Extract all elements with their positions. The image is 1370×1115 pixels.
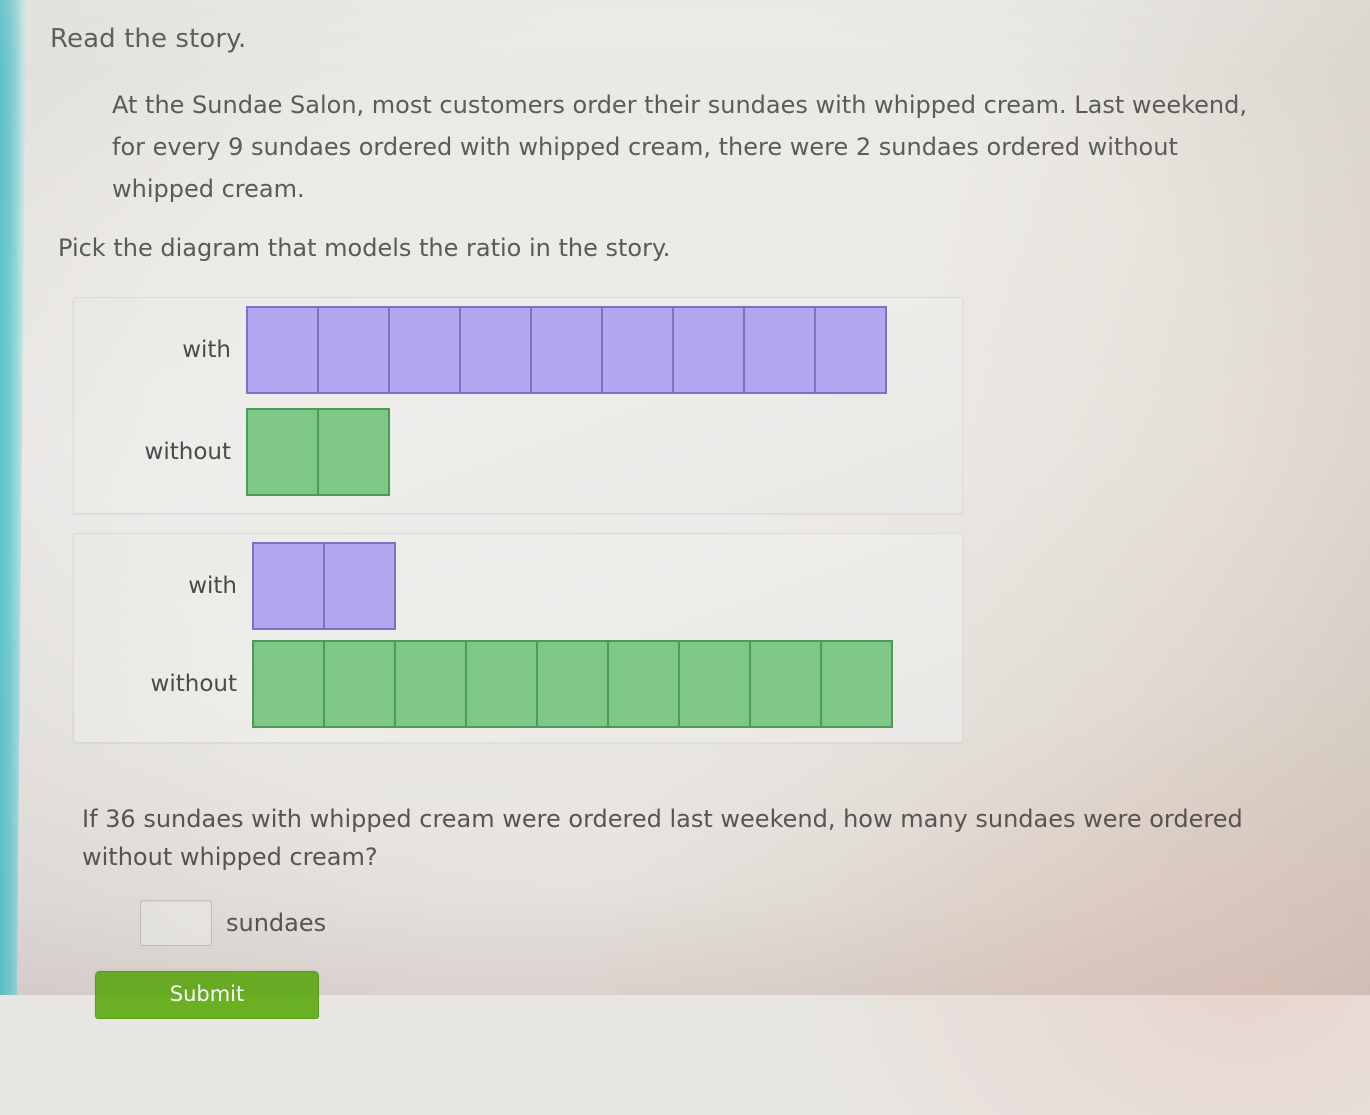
diagram-option-1[interactable]: with without xyxy=(73,297,963,514)
tape-cell xyxy=(607,640,680,728)
instruction-text: Pick the diagram that models the ratio i… xyxy=(58,234,670,262)
tape-cell xyxy=(246,306,319,394)
page-title: Read the story. xyxy=(50,24,246,54)
tape-bar-with xyxy=(246,306,887,394)
diagram-option-2[interactable]: with without xyxy=(73,533,963,743)
tape-row-label-without: without xyxy=(80,671,252,697)
answer-row: sundaes xyxy=(140,900,326,946)
tape-cell xyxy=(252,640,325,728)
tape-row-without: without xyxy=(74,408,390,496)
follow-up-question: If 36 sundaes with whipped cream were or… xyxy=(82,800,1277,876)
tape-cell xyxy=(536,640,609,728)
tape-row-with: with xyxy=(74,306,887,394)
tape-cell xyxy=(530,306,603,394)
tape-cell xyxy=(252,542,325,630)
tape-cell xyxy=(246,408,319,496)
submit-button[interactable]: Submit xyxy=(95,971,319,1019)
tape-cell xyxy=(317,408,390,496)
answer-unit-label: sundaes xyxy=(226,909,326,937)
tape-cell xyxy=(388,306,461,394)
tape-cell xyxy=(672,306,745,394)
tape-cell xyxy=(601,306,674,394)
tape-cell xyxy=(465,640,538,728)
tape-cell xyxy=(814,306,887,394)
tape-bar-with xyxy=(252,542,396,630)
tape-cell xyxy=(323,542,396,630)
story-paragraph: At the Sundae Salon, most customers orde… xyxy=(112,84,1287,210)
tape-cell xyxy=(317,306,390,394)
tape-cell xyxy=(749,640,822,728)
exercise-content: Read the story. At the Sundae Salon, mos… xyxy=(0,0,1370,995)
tape-cell xyxy=(459,306,532,394)
tape-cell xyxy=(394,640,467,728)
tape-cell xyxy=(678,640,751,728)
tape-cell xyxy=(743,306,816,394)
tape-cell xyxy=(323,640,396,728)
tape-row-label-with: with xyxy=(74,337,246,363)
tape-row-with: with xyxy=(80,542,396,630)
tape-bar-without xyxy=(246,408,390,496)
tape-row-label-with: with xyxy=(80,573,252,599)
tape-cell xyxy=(820,640,893,728)
answer-input[interactable] xyxy=(140,900,212,946)
tape-row-without: without xyxy=(80,640,893,728)
tape-bar-without xyxy=(252,640,893,728)
tape-row-label-without: without xyxy=(74,439,246,465)
